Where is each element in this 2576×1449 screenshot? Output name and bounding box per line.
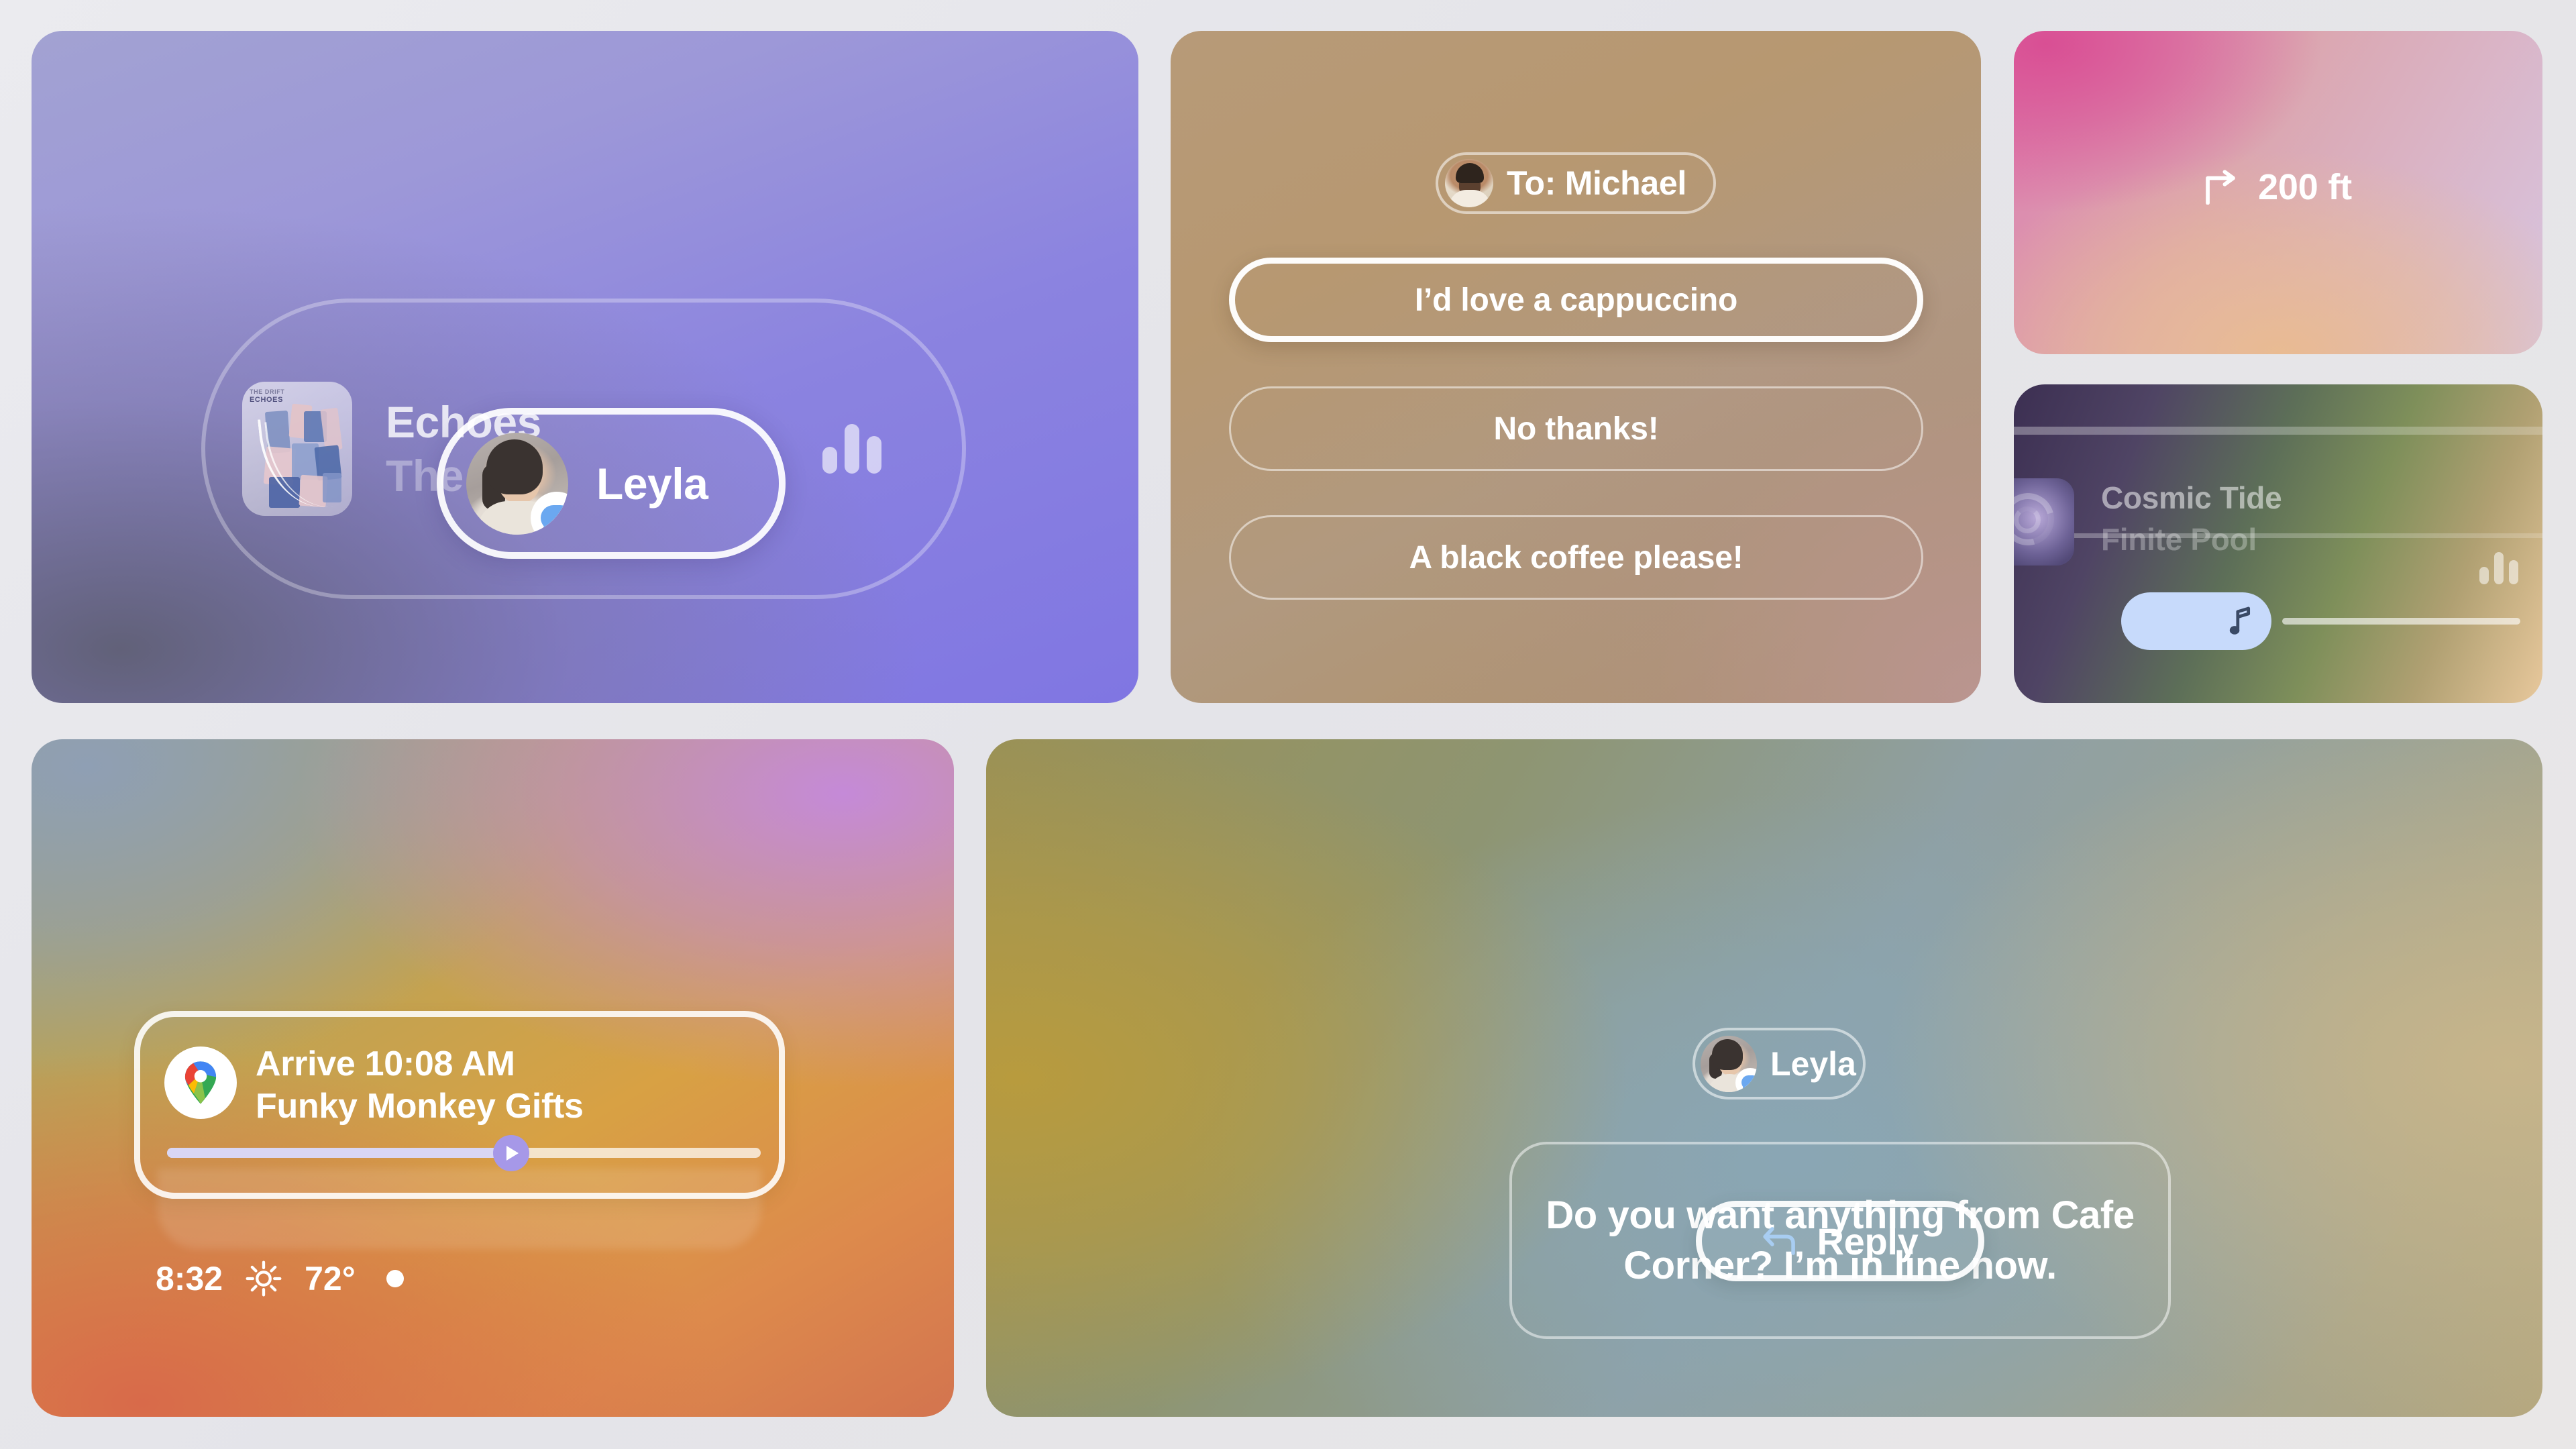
sender-chip[interactable]: Leyla bbox=[1693, 1028, 1866, 1099]
reply-button[interactable]: Reply bbox=[1696, 1201, 1984, 1281]
temperature-label: 72° bbox=[305, 1259, 356, 1298]
navigation-arrive-card: Arrive 10:08 AM Funky Monkey Gifts 8:32 … bbox=[32, 739, 954, 1417]
google-maps-pin-icon bbox=[164, 1046, 237, 1119]
sender-name: Leyla bbox=[1770, 1044, 1856, 1083]
clock-label: 8:32 bbox=[156, 1259, 223, 1298]
avatar bbox=[466, 433, 568, 535]
album-art: THE DRIFT ECHOES bbox=[242, 382, 352, 516]
suggestion-option-1[interactable]: No thanks! bbox=[1229, 386, 1923, 471]
music-note-icon bbox=[2227, 606, 2253, 637]
reply-label: Reply bbox=[1817, 1220, 1919, 1263]
avatar bbox=[1701, 1036, 1757, 1092]
now-playing-card[interactable]: THE DRIFT ECHOES Echoes The Drift bbox=[32, 31, 1138, 703]
messages-bubble-icon bbox=[531, 492, 568, 535]
album-art-label-title: ECHOES bbox=[250, 396, 284, 405]
contact-chip-leyla[interactable]: Leyla bbox=[437, 408, 786, 559]
track-title: Cosmic Tide bbox=[2101, 480, 2282, 516]
status-row: 8:32 72° bbox=[156, 1259, 404, 1298]
suggestion-option-2[interactable]: A black coffee please! bbox=[1229, 515, 1923, 600]
playback-progress-track[interactable] bbox=[2282, 618, 2520, 625]
avatar bbox=[1445, 159, 1493, 207]
track-artist: Finite Pool bbox=[2101, 521, 2257, 557]
navigation-instruction: 200 ft bbox=[2204, 166, 2352, 208]
arrive-panel[interactable]: Arrive 10:08 AM Funky Monkey Gifts bbox=[134, 1011, 785, 1199]
destination-label: Funky Monkey Gifts bbox=[256, 1086, 584, 1126]
recipient-label: To: Michael bbox=[1507, 164, 1686, 203]
eta-label: Arrive 10:08 AM bbox=[256, 1044, 515, 1084]
gloss-divider bbox=[2014, 533, 2542, 538]
reply-arrow-icon bbox=[1762, 1226, 1800, 1256]
dot-icon bbox=[386, 1270, 404, 1287]
cosmic-tide-card[interactable]: Cosmic Tide Finite Pool bbox=[2014, 384, 2542, 703]
suggestion-option-0[interactable]: I’d love a cappuccino bbox=[1229, 258, 1923, 342]
gloss-divider bbox=[2014, 427, 2542, 435]
widget-canvas: THE DRIFT ECHOES Echoes The Drift bbox=[0, 0, 2576, 1449]
reply-suggestions-card: To: Michael I’d love a cappuccino No tha… bbox=[1171, 31, 1981, 703]
album-art-label-artist: THE DRIFT bbox=[250, 388, 284, 396]
equalizer-bars-icon bbox=[2479, 552, 2518, 584]
trip-progress-slider[interactable] bbox=[167, 1148, 761, 1158]
distance-label: 200 ft bbox=[2258, 166, 2352, 208]
sun-icon bbox=[246, 1260, 282, 1297]
contact-name: Leyla bbox=[596, 458, 708, 509]
incoming-message-card: Leyla Do you want anything from Cafe Cor… bbox=[986, 739, 2542, 1417]
turn-right-icon bbox=[2204, 170, 2241, 205]
play-triangle-icon[interactable] bbox=[493, 1135, 529, 1171]
album-art bbox=[2014, 478, 2074, 566]
trip-progress-fill bbox=[167, 1148, 511, 1158]
music-app-pill[interactable] bbox=[2121, 592, 2271, 650]
navigation-distance-card[interactable]: 200 ft bbox=[2014, 31, 2542, 354]
recipient-chip[interactable]: To: Michael bbox=[1436, 152, 1716, 214]
equalizer-bars-icon bbox=[822, 424, 881, 474]
